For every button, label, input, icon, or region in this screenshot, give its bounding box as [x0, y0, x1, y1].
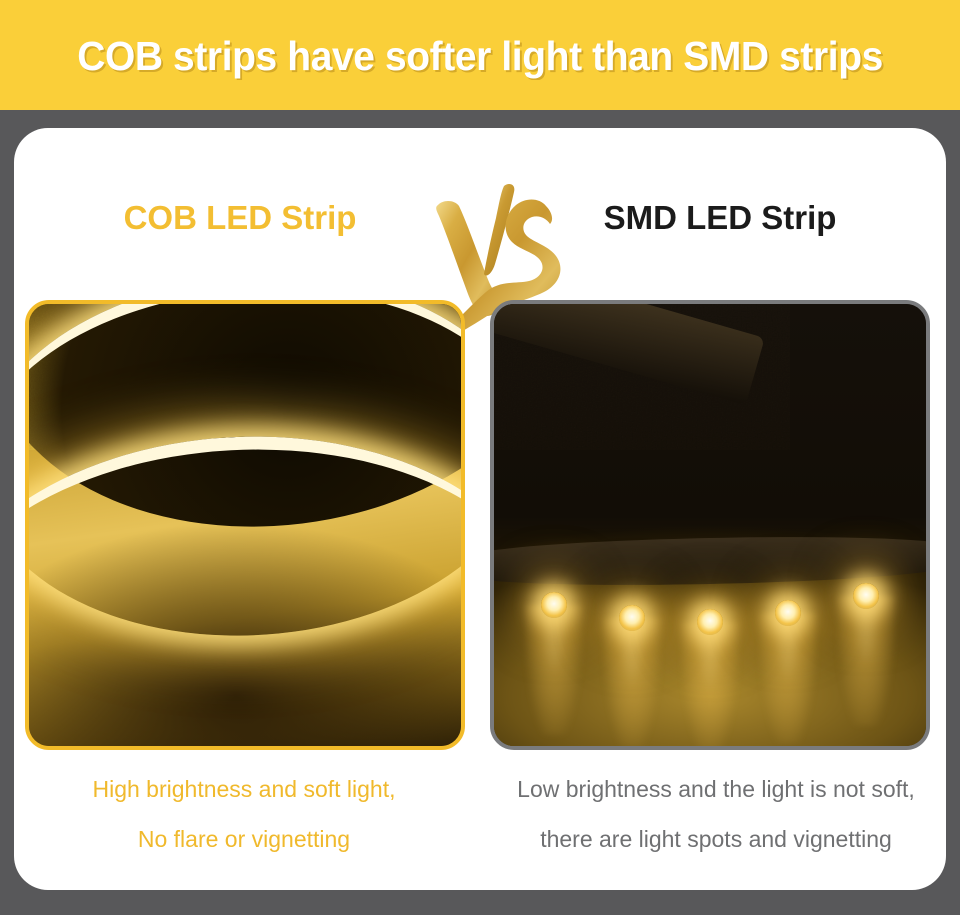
- smd-led-strip-photo: [494, 304, 926, 746]
- smd-caption: Low brightness and the light is not soft…: [490, 764, 942, 864]
- cob-led-strip-photo: [29, 304, 461, 746]
- cob-caption: High brightness and soft light, No flare…: [18, 764, 470, 864]
- smd-led-dot: [619, 605, 645, 631]
- smd-led-glow: [681, 622, 739, 746]
- smd-led-glow: [525, 605, 583, 735]
- smd-led-dot: [541, 592, 567, 618]
- cob-image-panel: [25, 300, 465, 750]
- comparison-card: COB LED Strip SMD LED Strip: [14, 128, 946, 890]
- cob-caption-line-2: No flare or vignetting: [18, 814, 470, 864]
- smd-led-glow: [837, 596, 895, 726]
- comparison-titles: COB LED Strip SMD LED Strip: [14, 188, 946, 248]
- smd-led-glow: [603, 618, 661, 746]
- header-banner: COB strips have softer light than SMD st…: [0, 0, 960, 110]
- smd-caption-line-1: Low brightness and the light is not soft…: [490, 764, 942, 814]
- smd-led-dot: [775, 600, 801, 626]
- smd-led-dot: [853, 583, 879, 609]
- smd-image-panel: [490, 300, 930, 750]
- cob-caption-line-1: High brightness and soft light,: [18, 764, 470, 814]
- smd-caption-line-2: there are light spots and vignetting: [490, 814, 942, 864]
- smd-column-title: SMD LED Strip: [494, 188, 946, 248]
- cob-light-band-lower: [29, 421, 461, 746]
- smd-led-glow: [759, 613, 817, 743]
- smd-led-dot: [697, 609, 723, 635]
- page-title: COB strips have softer light than SMD st…: [77, 36, 883, 77]
- cob-column-title: COB LED Strip: [14, 188, 466, 248]
